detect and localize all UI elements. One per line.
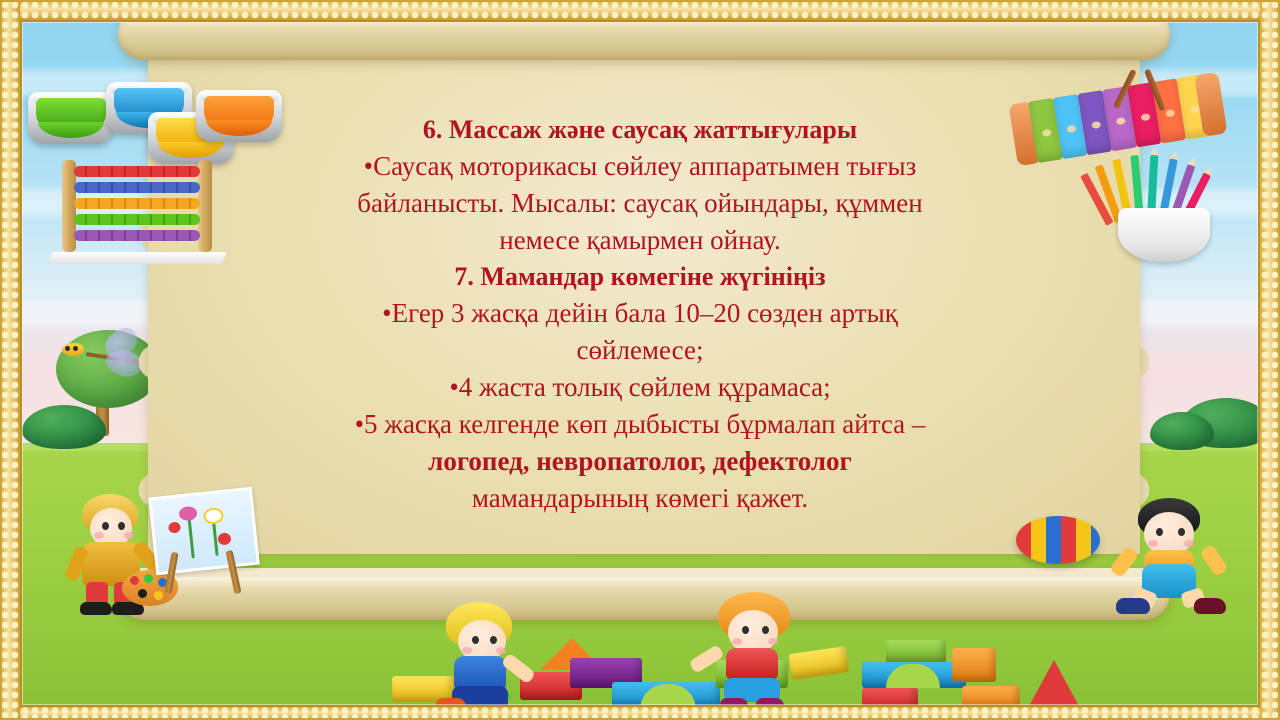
shirt: [726, 648, 778, 680]
arm: [501, 652, 536, 684]
cheek: [768, 638, 778, 645]
arm: [1109, 545, 1139, 578]
cheek: [1184, 540, 1194, 547]
block-orange: [962, 686, 1020, 710]
arm: [1199, 544, 1228, 577]
slide-text-block: 6. Массаж және саусақ жаттығулары •Сауса…: [270, 112, 1010, 517]
dragonfly-head: [62, 343, 84, 356]
eye: [472, 636, 479, 644]
text-body-7-4: •5 жасқа келгенде көп дыбысты бұрмалап а…: [270, 406, 1010, 443]
eye: [762, 626, 769, 634]
paint-bucket-green: [28, 92, 114, 144]
eye: [102, 522, 109, 530]
block-orange: [952, 648, 996, 682]
cheek: [124, 532, 134, 539]
cheek: [94, 532, 104, 539]
striped-ball: [1016, 516, 1100, 564]
text-heading-7: 7. Мамандар көмегіне жүгініңіз: [270, 259, 1010, 295]
eye: [1156, 528, 1163, 536]
text-body-7-2: сөйлемесе;: [270, 332, 1010, 369]
text-body-7-5: логопед, невропатолог, дефектолог: [270, 443, 1010, 480]
text-body-6-3: немесе қамырмен ойнау.: [270, 222, 1010, 259]
eye: [742, 626, 749, 634]
block-green: [886, 640, 946, 664]
easel: [152, 492, 262, 592]
abacus-toy: [62, 160, 212, 264]
scroll-roll-top: [118, 8, 1170, 60]
shoe: [720, 698, 748, 711]
block-red: [862, 688, 918, 712]
text-body-6-1: •Саусақ моторикасы сөйлеу аппаратымен ты…: [270, 148, 1010, 185]
shoe: [436, 698, 466, 712]
child-blocks-right: [700, 592, 828, 710]
shoe: [756, 698, 784, 711]
text-body-7-3: •4 жаста толық сөйлем құрамаса;: [270, 369, 1010, 406]
child-blocks-left: [430, 602, 550, 710]
text-heading-6: 6. Массаж және саусақ жаттығулары: [270, 112, 1010, 148]
eye: [1178, 528, 1185, 536]
canvas-painting: [148, 487, 260, 575]
slide: 6. Массаж және саусақ жаттығулары •Сауса…: [0, 0, 1280, 720]
cheek: [732, 638, 742, 645]
eye: [118, 522, 125, 530]
cheek: [496, 647, 506, 654]
eye: [490, 636, 497, 644]
shirt: [454, 656, 506, 690]
text-body-7-6: мамандарының көмегі қажет.: [270, 480, 1010, 517]
text-body-6-2: байланысты. Мысалы: саусақ ойындары, құм…: [270, 185, 1010, 222]
bush: [22, 405, 106, 449]
child-with-ball: [1112, 498, 1242, 608]
shoe: [80, 602, 112, 615]
cheek: [462, 647, 472, 654]
scroll-roll-bottom: [118, 568, 1170, 620]
text-body-7-1: •Егер 3 жасқа дейін бала 10–20 сөзден ар…: [270, 295, 1010, 332]
block-triangle-red: [1028, 660, 1080, 708]
shoe: [1194, 598, 1226, 614]
cheek: [1148, 540, 1158, 547]
shoe: [1116, 598, 1150, 614]
